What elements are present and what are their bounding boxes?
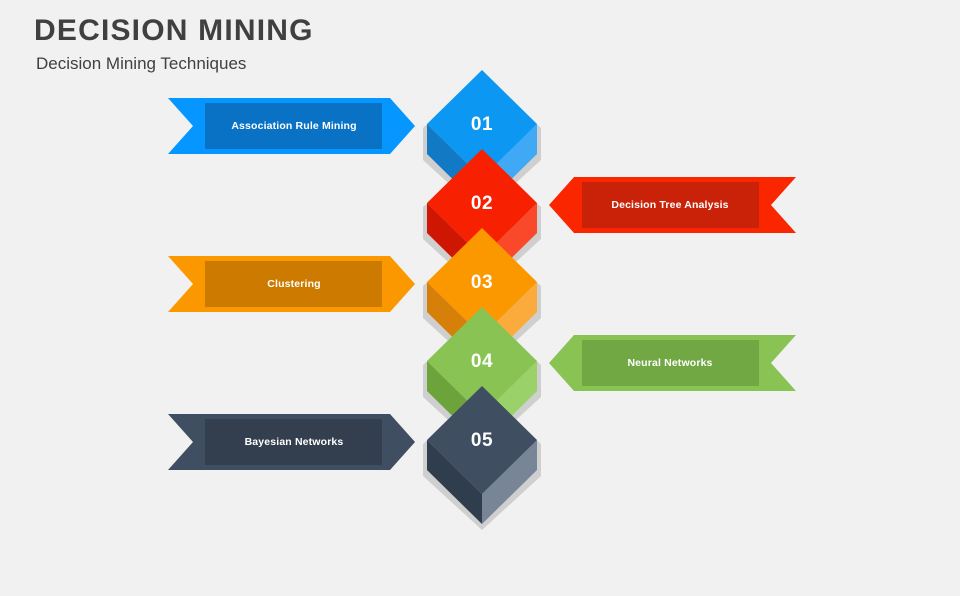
banner-inner-plate xyxy=(205,261,382,307)
banner-inner-plate xyxy=(205,419,382,465)
diamond-step-05[interactable]: 05 xyxy=(372,376,592,596)
banner-05[interactable]: Bayesian Networks xyxy=(168,414,415,470)
banner-inner-plate xyxy=(582,340,759,386)
banner-inner-plate xyxy=(205,103,382,149)
banner-inner-plate xyxy=(582,182,759,228)
diamond-stack: 01Association Rule Mining02Decision Tree… xyxy=(0,0,960,540)
slide-canvas: DECISION MINING Decision Mining Techniqu… xyxy=(0,0,960,540)
